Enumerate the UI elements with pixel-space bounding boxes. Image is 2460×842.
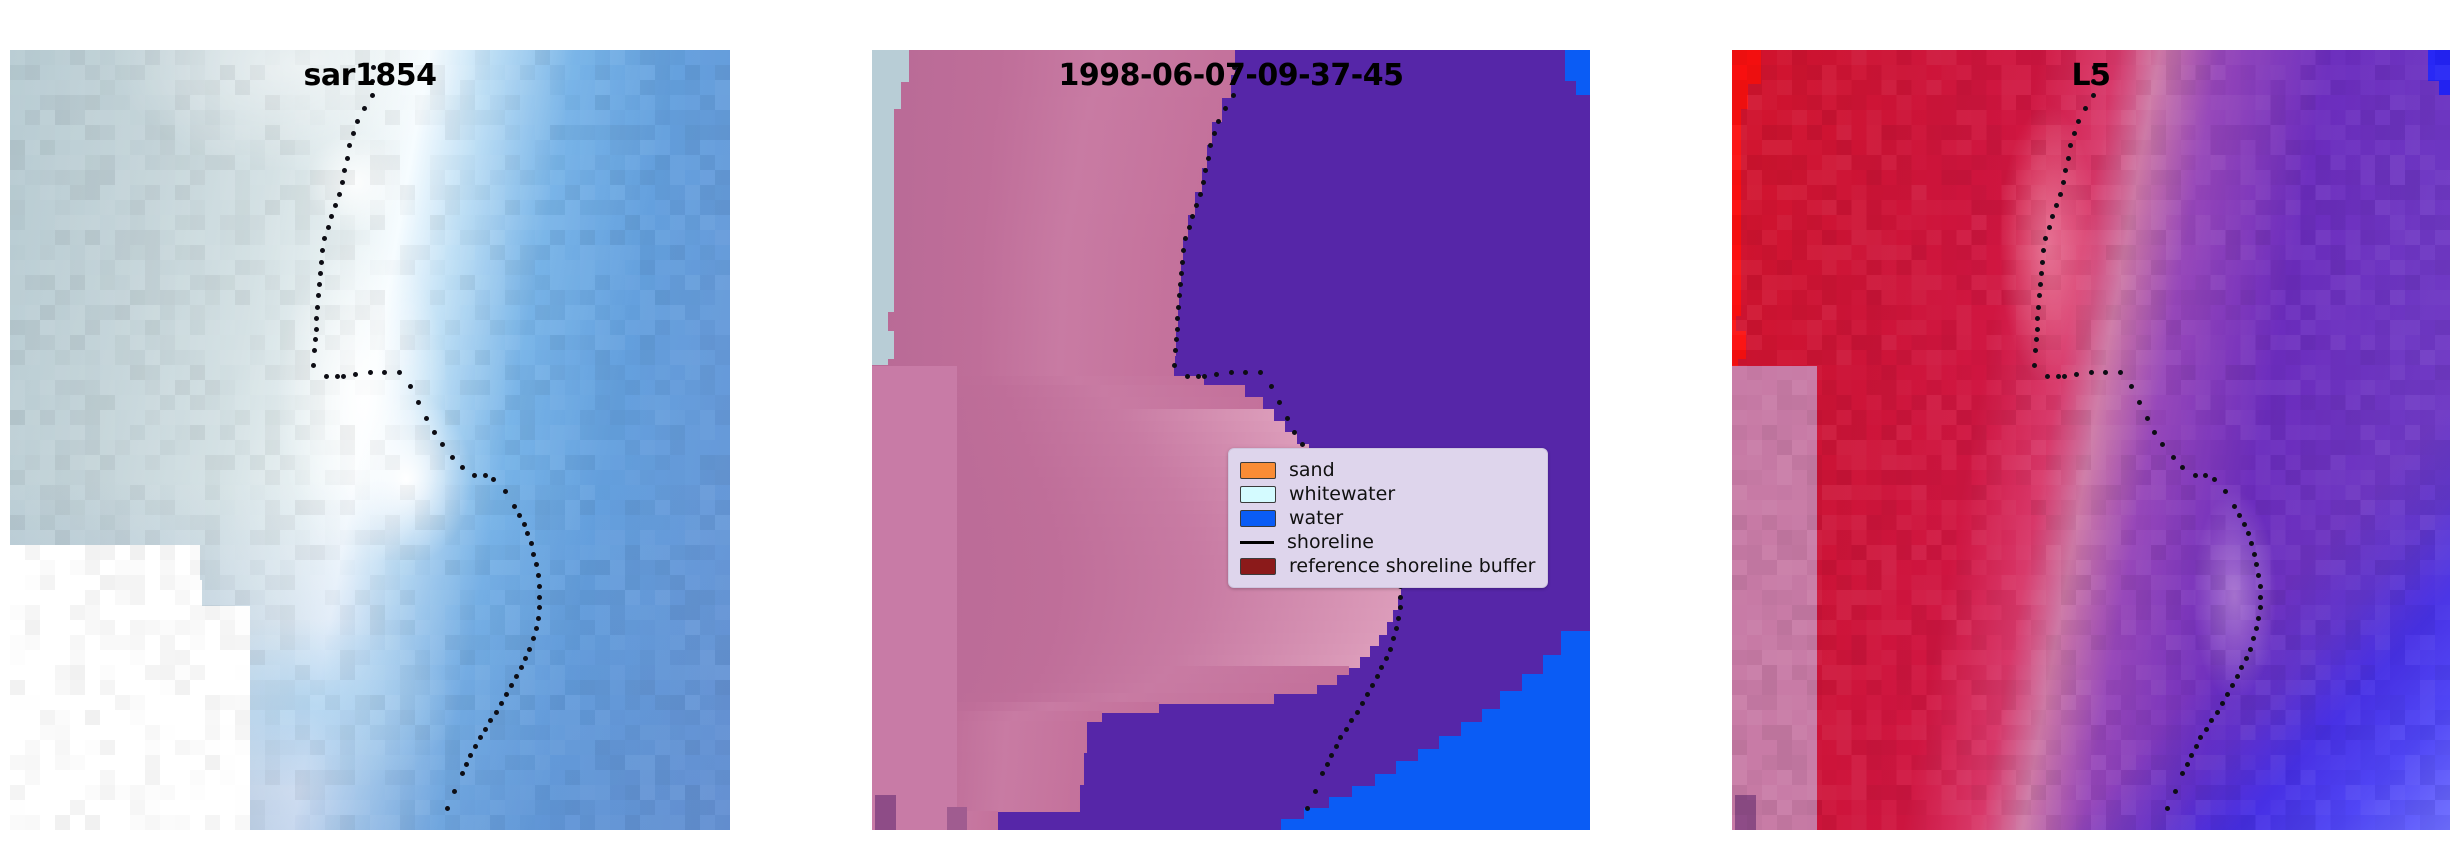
shoreline-dot: [499, 701, 504, 706]
shoreline-dot: [1178, 282, 1183, 287]
shoreline-dot: [512, 504, 517, 509]
shoreline-dot: [2254, 562, 2259, 567]
shoreline-dot: [1208, 143, 1213, 148]
shoreline-dot: [315, 305, 320, 310]
shoreline-dot: [2068, 143, 2073, 148]
shoreline-dot: [1313, 789, 1318, 794]
shoreline-dot: [333, 203, 338, 208]
shoreline-dot: [2160, 442, 2165, 447]
shoreline-dot: [1398, 605, 1403, 610]
shoreline-dot: [1320, 771, 1325, 776]
shoreline-dot: [1344, 727, 1349, 732]
shoreline-dot: [2212, 477, 2217, 482]
shoreline-dot: [1183, 236, 1188, 241]
shoreline-dot: [2203, 473, 2208, 478]
shoreline-dot: [440, 442, 445, 447]
shoreline-dot: [2223, 489, 2228, 494]
shoreline-dot: [1196, 374, 1201, 379]
shoreline-dot: [2248, 647, 2253, 652]
shoreline-dot: [432, 430, 437, 435]
shoreline-dot: [347, 143, 352, 148]
shoreline-dot: [337, 192, 342, 197]
shoreline-dot: [2258, 595, 2263, 600]
shoreline-dot: [408, 384, 413, 389]
shoreline-dot: [2039, 271, 2044, 276]
legend-swatch-sand: [1240, 462, 1276, 479]
legend-label-water: water: [1289, 509, 1343, 528]
shoreline-dot: [2103, 370, 2108, 375]
shoreline-dot: [478, 735, 483, 740]
shoreline-dot: [2129, 384, 2134, 389]
shoreline-dot: [1229, 370, 1234, 375]
shoreline-dot: [1198, 192, 1203, 197]
shoreline-dot: [1375, 674, 1380, 679]
shoreline-dot: [424, 416, 429, 421]
shoreline-dot: [318, 271, 323, 276]
classified-shoreline-overlay: [872, 50, 1590, 830]
shoreline-dot: [450, 455, 455, 460]
legend[interactable]: sand whitewater water shoreline: [1228, 448, 1548, 588]
legend-label-whitewater: whitewater: [1289, 485, 1395, 504]
shoreline-dot: [1277, 400, 1282, 405]
shoreline-dot: [494, 710, 499, 715]
shoreline-dot: [2118, 370, 2123, 375]
shoreline-dot: [368, 370, 373, 375]
shoreline-dot: [2034, 337, 2039, 342]
shoreline-dot: [1190, 214, 1195, 219]
panel-l5-canvas: [1732, 50, 2450, 830]
shoreline-dot: [2189, 753, 2194, 758]
shoreline-dot: [1201, 180, 1206, 185]
shoreline-dot: [2246, 531, 2251, 536]
shoreline-dot: [2180, 465, 2185, 470]
shoreline-dot: [2038, 282, 2043, 287]
shoreline-dot: [317, 282, 322, 287]
shoreline-dot: [1365, 692, 1370, 697]
shoreline-dot: [473, 744, 478, 749]
shoreline-dot: [509, 683, 514, 688]
legend-swatch-reference-buffer: [1240, 558, 1276, 575]
shoreline-dot: [529, 541, 534, 546]
shoreline-dot: [531, 636, 536, 641]
panel-sar: sar1854: [10, 50, 730, 830]
shoreline-dot: [491, 477, 496, 482]
shoreline-dot: [329, 214, 334, 219]
shoreline-dot: [525, 531, 530, 536]
shoreline-dot: [2165, 806, 2170, 811]
shoreline-dot: [1300, 442, 1305, 447]
shoreline-dot: [1285, 416, 1290, 421]
shoreline-dot: [460, 465, 465, 470]
shoreline-dot: [519, 665, 524, 670]
l5-shoreline-overlay: [1732, 50, 2450, 830]
shoreline-dot: [1214, 372, 1219, 377]
shoreline-dot: [335, 374, 340, 379]
panel-classified: sand whitewater water shoreline: [872, 50, 1590, 830]
shoreline-dot: [345, 156, 350, 161]
shoreline-dot: [1174, 337, 1179, 342]
shoreline-dot: [534, 562, 539, 567]
panel-classified-title: 1998-06-07-09-37-45: [872, 50, 1590, 100]
legend-swatch-water: [1240, 510, 1276, 527]
shoreline-dot: [1206, 156, 1211, 161]
legend-item-water[interactable]: water: [1240, 506, 1535, 530]
shoreline-dot: [316, 293, 321, 298]
shoreline-dot: [2032, 363, 2037, 368]
shoreline-dot: [355, 119, 360, 124]
shoreline-dot: [340, 180, 345, 185]
shoreline-dot: [2258, 605, 2263, 610]
shoreline-dot: [313, 337, 318, 342]
shoreline-dot: [326, 225, 331, 230]
shoreline-dot: [2062, 374, 2067, 379]
shoreline-dot: [1175, 316, 1180, 321]
shoreline-dot: [522, 522, 527, 527]
panel-l5: L5: [1732, 50, 2450, 830]
shoreline-dot: [504, 692, 509, 697]
legend-label-sand: sand: [1289, 461, 1335, 480]
shoreline-dot: [2074, 372, 2079, 377]
shoreline-dot: [2237, 513, 2242, 518]
shoreline-dot: [342, 168, 347, 173]
shoreline-dot: [537, 605, 542, 610]
shoreline-dot: [1396, 616, 1401, 621]
shoreline-dot: [1212, 131, 1217, 136]
shoreline-dot: [2209, 718, 2214, 723]
shoreline-dot: [472, 473, 477, 478]
shoreline-dot: [2185, 762, 2190, 767]
shoreline-dot: [314, 316, 319, 321]
shoreline-dot: [1203, 168, 1208, 173]
shoreline-dot: [517, 513, 522, 518]
shoreline-dot: [2232, 504, 2237, 509]
shoreline-dot: [503, 489, 508, 494]
shoreline-dot: [322, 236, 327, 241]
shoreline-dot: [536, 573, 541, 578]
shoreline-dot: [2036, 305, 2041, 310]
shoreline-dot: [2215, 710, 2220, 715]
shoreline-dot: [1398, 595, 1403, 600]
shoreline-dot: [1394, 626, 1399, 631]
shoreline-dot: [527, 647, 532, 652]
shoreline-dot: [531, 552, 536, 557]
panel-l5-title: L5: [1732, 50, 2450, 100]
shoreline-dot: [1338, 735, 1343, 740]
panel-sar-title: sar1854: [10, 50, 730, 100]
shoreline-dot: [2251, 636, 2256, 641]
shoreline-dot: [1176, 305, 1181, 310]
shoreline-dot: [523, 656, 528, 661]
shoreline-dot: [2225, 692, 2230, 697]
shoreline-dot: [1370, 683, 1375, 688]
shoreline-dot: [536, 616, 541, 621]
legend-item-sand[interactable]: sand: [1240, 458, 1535, 482]
shoreline-dot: [1292, 430, 1297, 435]
shoreline-dot: [2242, 522, 2247, 527]
shoreline-dot: [2041, 248, 2046, 253]
shoreline-dot: [1185, 374, 1190, 379]
shoreline-dot: [488, 718, 493, 723]
shoreline-dot: [1379, 665, 1384, 670]
shoreline-dot: [1269, 384, 1274, 389]
shoreline-dot: [2256, 616, 2261, 621]
legend-item-shoreline[interactable]: shoreline: [1240, 530, 1535, 554]
shoreline-dot: [1181, 248, 1186, 253]
shoreline-dot: [324, 374, 329, 379]
shoreline-dot: [2254, 626, 2259, 631]
shoreline-dot: [2054, 203, 2059, 208]
figure-root: sar1854 sand whitewater: [0, 0, 2460, 842]
shoreline-dot: [1329, 753, 1334, 758]
shoreline-dot: [2061, 180, 2066, 185]
shoreline-dot: [2047, 225, 2052, 230]
shoreline-dot: [1360, 701, 1365, 706]
shoreline-dot: [1258, 370, 1263, 375]
shoreline-dot: [353, 372, 358, 377]
shoreline-dot: [537, 584, 542, 589]
shoreline-dot: [2050, 214, 2055, 219]
legend-item-whitewater[interactable]: whitewater: [1240, 482, 1535, 506]
shoreline-dot: [2194, 744, 2199, 749]
shoreline-dot: [460, 771, 465, 776]
shoreline-dot: [2063, 168, 2068, 173]
shoreline-dot: [320, 248, 325, 253]
shoreline-dot: [452, 789, 457, 794]
shoreline-dot: [2035, 316, 2040, 321]
shoreline-dot: [341, 374, 346, 379]
shoreline-dot: [2145, 416, 2150, 421]
shoreline-dot: [2235, 674, 2240, 679]
shoreline-dot: [311, 363, 316, 368]
shoreline-dot: [2198, 735, 2203, 740]
shoreline-dot: [537, 595, 542, 600]
legend-swatch-shoreline: [1240, 535, 1274, 550]
legend-item-reference-buffer[interactable]: reference shoreline buffer: [1240, 554, 1535, 578]
sar-shoreline-overlay: [10, 50, 730, 830]
shoreline-dot: [362, 106, 367, 111]
shoreline-dot: [2244, 656, 2249, 661]
shoreline-dot: [1194, 203, 1199, 208]
shoreline-dot: [2204, 727, 2209, 732]
shoreline-dot: [2171, 455, 2176, 460]
shoreline-dot: [2249, 541, 2254, 546]
shoreline-dot: [483, 473, 488, 478]
shoreline-dot: [2137, 400, 2142, 405]
shoreline-dot: [1243, 370, 1248, 375]
shoreline-dot: [2056, 374, 2061, 379]
panel-sar-canvas: [10, 50, 730, 830]
shoreline-dot: [1325, 762, 1330, 767]
shoreline-dot: [397, 370, 402, 375]
shoreline-dot: [2193, 473, 2198, 478]
shoreline-dot: [2045, 374, 2050, 379]
shoreline-dot: [1180, 260, 1185, 265]
shoreline-dot: [1349, 718, 1354, 723]
shoreline-dot: [2072, 131, 2077, 136]
shoreline-dot: [2252, 552, 2257, 557]
shoreline-dot: [445, 806, 450, 811]
shoreline-dot: [382, 370, 387, 375]
shoreline-dot: [351, 131, 356, 136]
shoreline-dot: [2066, 156, 2071, 161]
shoreline-dot: [1391, 636, 1396, 641]
shoreline-dot: [2258, 584, 2263, 589]
shoreline-dot: [2230, 683, 2235, 688]
shoreline-dot: [1202, 374, 1207, 379]
legend-label-reference-buffer: reference shoreline buffer: [1289, 557, 1535, 576]
shoreline-dot: [2083, 106, 2088, 111]
shoreline-dot: [2220, 701, 2225, 706]
shoreline-dot: [483, 727, 488, 732]
shoreline-dot: [2089, 370, 2094, 375]
shoreline-dot: [312, 348, 317, 353]
shoreline-dot: [1384, 656, 1389, 661]
shoreline-dot: [1173, 348, 1178, 353]
shoreline-dot: [514, 674, 519, 679]
shoreline-dot: [416, 400, 421, 405]
shoreline-dot: [1187, 225, 1192, 230]
shoreline-dot: [2040, 260, 2045, 265]
shoreline-dot: [2043, 236, 2048, 241]
shoreline-dot: [1334, 744, 1339, 749]
shoreline-dot: [464, 762, 469, 767]
shoreline-dot: [534, 626, 539, 631]
panel-classified-canvas: sand whitewater water shoreline: [872, 50, 1590, 830]
shoreline-dot: [1177, 293, 1182, 298]
shoreline-dot: [1223, 106, 1228, 111]
shoreline-dot: [1305, 806, 1310, 811]
shoreline-dot: [1172, 363, 1177, 368]
shoreline-dot: [2256, 573, 2261, 578]
shoreline-dot: [1388, 647, 1393, 652]
shoreline-dot: [1175, 327, 1180, 332]
shoreline-dot: [2058, 192, 2063, 197]
shoreline-dot: [2239, 665, 2244, 670]
shoreline-dot: [2035, 327, 2040, 332]
shoreline-dot: [2152, 430, 2157, 435]
shoreline-dot: [2173, 789, 2178, 794]
legend-label-shoreline: shoreline: [1287, 533, 1374, 552]
shoreline-dot: [2076, 119, 2081, 124]
shoreline-dot: [1216, 119, 1221, 124]
shoreline-dot: [2180, 771, 2185, 776]
legend-swatch-whitewater: [1240, 486, 1276, 503]
shoreline-dot: [1179, 271, 1184, 276]
shoreline-dot: [2037, 293, 2042, 298]
shoreline-dot: [1355, 710, 1360, 715]
shoreline-dot: [468, 753, 473, 758]
shoreline-dot: [2033, 348, 2038, 353]
shoreline-dot: [314, 327, 319, 332]
shoreline-dot: [319, 260, 324, 265]
